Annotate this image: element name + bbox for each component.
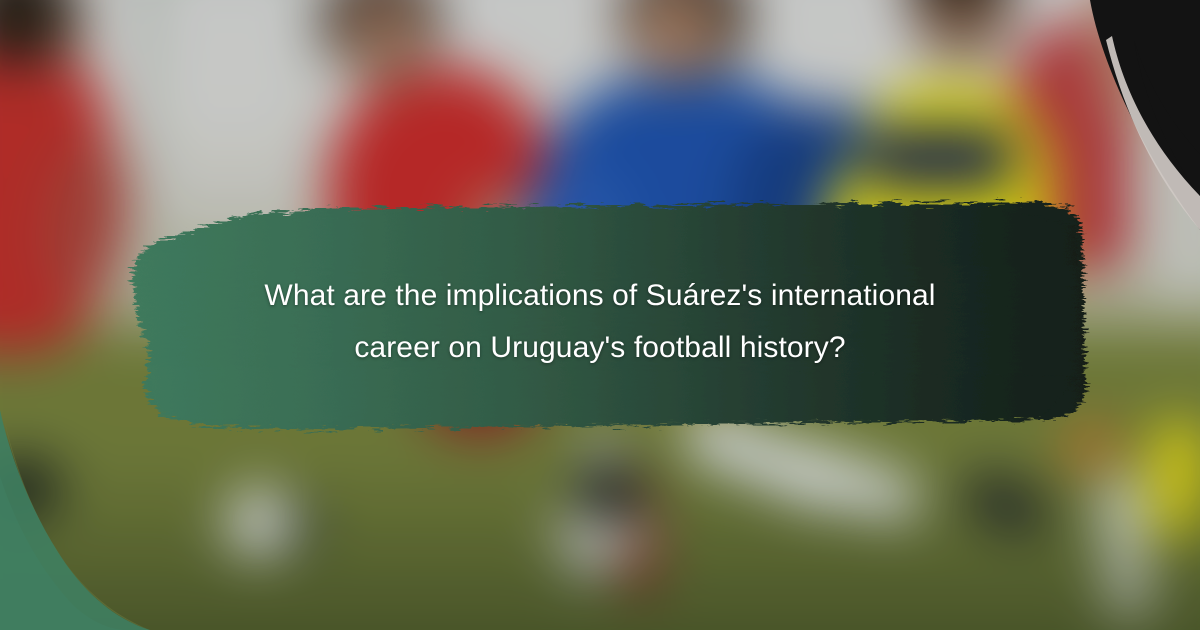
- headline-line-1: What are the implications of Suárez's in…: [150, 270, 1050, 322]
- headline-line-2: career on Uruguay's football history?: [150, 322, 1050, 374]
- share-card: What are the implications of Suárez's in…: [0, 0, 1200, 630]
- page-title: What are the implications of Suárez's in…: [150, 270, 1050, 374]
